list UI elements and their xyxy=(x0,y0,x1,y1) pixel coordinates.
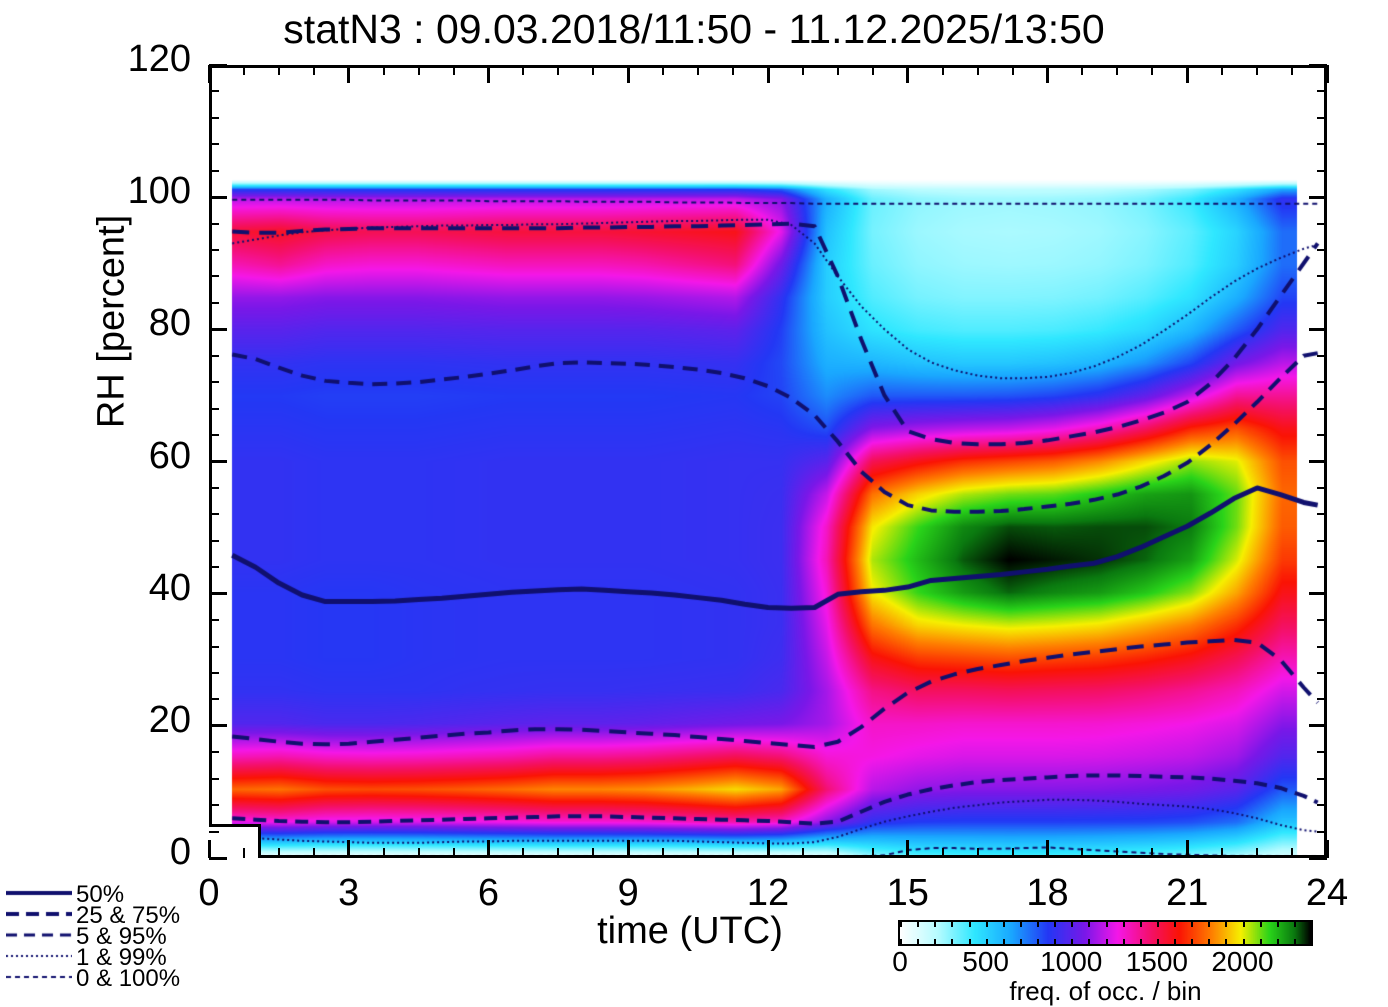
colorbar-minor-tick xyxy=(1054,939,1056,944)
y-minor-tick xyxy=(1317,355,1327,357)
colorbar-minor-tick xyxy=(1157,922,1159,927)
colorbar-minor-tick xyxy=(986,922,988,927)
colorbar-minor-tick xyxy=(1106,939,1108,944)
y-minor-tick xyxy=(209,302,219,304)
y-major-tick xyxy=(1309,592,1327,595)
y-minor-tick xyxy=(209,355,219,357)
colorbar-minor-tick xyxy=(1277,922,1279,927)
y-major-tick xyxy=(1309,328,1327,331)
y-minor-tick xyxy=(1317,566,1327,568)
y-minor-tick xyxy=(1317,223,1327,225)
y-minor-tick xyxy=(1317,170,1327,172)
x-tick-label: 6 xyxy=(419,872,559,915)
colorbar-minor-tick xyxy=(1037,922,1039,927)
legend-label: 0 & 100% xyxy=(76,965,180,993)
x-minor-tick xyxy=(942,848,944,858)
x-tick-label: 15 xyxy=(838,872,978,915)
x-major-tick xyxy=(208,65,211,83)
colorbar-minor-tick xyxy=(1071,939,1073,944)
colorbar-minor-tick xyxy=(917,922,919,927)
y-minor-tick xyxy=(1317,619,1327,621)
y-minor-tick xyxy=(1317,672,1327,674)
colorbar-minor-tick xyxy=(1140,939,1142,944)
x-tick-label: 3 xyxy=(279,872,419,915)
x-major-tick xyxy=(767,65,770,83)
x-minor-tick xyxy=(872,848,874,858)
x-minor-tick xyxy=(278,848,280,858)
plot-page: statN3 : 09.03.2018/11:50 - 11.12.2025/1… xyxy=(0,0,1388,992)
y-minor-tick xyxy=(1317,751,1327,753)
y-major-tick xyxy=(209,592,227,595)
y-minor-tick xyxy=(1317,487,1327,489)
y-minor-tick xyxy=(1317,275,1327,277)
y-minor-tick xyxy=(1317,143,1327,145)
colorbar-minor-tick xyxy=(934,922,936,927)
colorbar-minor-tick xyxy=(1260,939,1262,944)
y-minor-tick xyxy=(1317,513,1327,515)
colorbar-minor-tick xyxy=(986,939,988,944)
x-major-tick xyxy=(906,65,909,83)
y-minor-tick xyxy=(1317,434,1327,436)
y-tick-label: 20 xyxy=(19,699,191,742)
x-major-tick xyxy=(487,840,490,858)
legend-line-sample xyxy=(6,951,72,961)
colorbar-minor-tick xyxy=(1003,939,1005,944)
y-major-tick xyxy=(1309,460,1327,463)
y-minor-tick xyxy=(209,434,219,436)
y-major-tick xyxy=(1309,724,1327,727)
legend-line-sample xyxy=(6,930,72,940)
x-minor-tick xyxy=(1256,65,1258,75)
x-major-tick xyxy=(487,65,490,83)
y-minor-tick xyxy=(1317,698,1327,700)
x-minor-tick xyxy=(1151,65,1153,75)
colorbar-minor-tick xyxy=(900,939,902,944)
y-minor-tick xyxy=(1317,540,1327,542)
colorbar-minor-tick xyxy=(917,939,919,944)
x-minor-tick xyxy=(557,848,559,858)
x-minor-tick xyxy=(1291,65,1293,75)
colorbar-minor-tick xyxy=(1174,922,1176,927)
x-minor-tick xyxy=(243,848,245,858)
x-minor-tick xyxy=(278,65,280,75)
colorbar-minor-tick xyxy=(934,939,936,944)
x-minor-tick xyxy=(1116,848,1118,858)
legend-item: 0 & 100% xyxy=(4,968,204,989)
x-minor-tick xyxy=(1012,848,1014,858)
x-minor-tick xyxy=(1012,65,1014,75)
x-minor-tick xyxy=(732,65,734,75)
y-minor-tick xyxy=(209,778,219,780)
colorbar-minor-tick xyxy=(1277,939,1279,944)
y-minor-tick xyxy=(1317,249,1327,251)
y-minor-tick xyxy=(209,143,219,145)
x-minor-tick xyxy=(1221,848,1223,858)
x-minor-tick xyxy=(977,65,979,75)
colorbar-minor-tick xyxy=(1123,939,1125,944)
colorbar-minor-tick xyxy=(1260,922,1262,927)
x-minor-tick xyxy=(837,65,839,75)
x-minor-tick xyxy=(522,848,524,858)
colorbar-minor-tick xyxy=(1225,922,1227,927)
y-major-tick xyxy=(209,64,227,67)
x-minor-tick xyxy=(1151,848,1153,858)
x-major-tick xyxy=(1186,840,1189,858)
x-minor-tick xyxy=(313,848,315,858)
y-major-tick xyxy=(1309,64,1327,67)
x-tick-label: 21 xyxy=(1117,872,1257,915)
no-data-box xyxy=(209,824,261,858)
colorbar-minor-tick xyxy=(1311,939,1313,944)
x-minor-tick xyxy=(837,848,839,858)
x-minor-tick xyxy=(662,848,664,858)
x-major-tick xyxy=(347,840,350,858)
y-minor-tick xyxy=(1317,831,1327,833)
y-minor-tick xyxy=(1317,302,1327,304)
colorbar-minor-tick xyxy=(951,939,953,944)
colorbar-minor-tick xyxy=(1191,922,1193,927)
y-minor-tick xyxy=(1317,408,1327,410)
colorbar-minor-tick xyxy=(1071,922,1073,927)
y-minor-tick xyxy=(1317,778,1327,780)
y-minor-tick xyxy=(209,223,219,225)
x-minor-tick xyxy=(243,65,245,75)
x-major-tick xyxy=(1326,840,1329,858)
colorbar-minor-tick xyxy=(1311,922,1313,927)
x-major-tick xyxy=(1186,65,1189,83)
y-minor-tick xyxy=(209,540,219,542)
y-minor-tick xyxy=(1317,646,1327,648)
y-minor-tick xyxy=(209,487,219,489)
y-minor-tick xyxy=(209,751,219,753)
x-minor-tick xyxy=(1291,848,1293,858)
x-minor-tick xyxy=(592,848,594,858)
y-minor-tick xyxy=(209,513,219,515)
colorbar: 0500100015002000 freq. of occ. / bin xyxy=(898,920,1313,946)
x-major-tick xyxy=(208,840,211,858)
x-major-tick xyxy=(1326,65,1329,83)
x-minor-tick xyxy=(697,65,699,75)
colorbar-minor-tick xyxy=(1088,939,1090,944)
colorbar-minor-tick xyxy=(1157,939,1159,944)
y-minor-tick xyxy=(209,275,219,277)
y-minor-tick xyxy=(209,117,219,119)
y-minor-tick xyxy=(209,672,219,674)
x-minor-tick xyxy=(662,65,664,75)
y-major-tick xyxy=(1309,196,1327,199)
x-major-tick xyxy=(906,840,909,858)
y-major-tick xyxy=(1309,857,1327,860)
x-minor-tick xyxy=(418,848,420,858)
axis-frame xyxy=(209,65,1327,858)
colorbar-minor-tick xyxy=(1123,922,1125,927)
x-major-tick xyxy=(627,65,630,83)
colorbar-minor-tick xyxy=(1054,922,1056,927)
x-minor-tick xyxy=(383,65,385,75)
x-major-tick xyxy=(1046,840,1049,858)
x-major-tick xyxy=(1046,65,1049,83)
y-major-tick xyxy=(209,328,227,331)
x-minor-tick xyxy=(802,65,804,75)
y-minor-tick xyxy=(209,804,219,806)
y-tick-label: 120 xyxy=(19,38,191,81)
colorbar-minor-tick xyxy=(1191,939,1193,944)
y-minor-tick xyxy=(1317,381,1327,383)
x-minor-tick xyxy=(1081,65,1083,75)
x-tick-label: 18 xyxy=(978,872,1118,915)
y-major-tick xyxy=(209,724,227,727)
legend-line-sample xyxy=(6,972,72,982)
colorbar-minor-tick xyxy=(1225,939,1227,944)
y-minor-tick xyxy=(209,619,219,621)
x-minor-tick xyxy=(697,848,699,858)
x-minor-tick xyxy=(557,65,559,75)
y-minor-tick xyxy=(209,566,219,568)
x-minor-tick xyxy=(802,848,804,858)
legend-line-sample xyxy=(6,888,72,898)
y-minor-tick xyxy=(209,249,219,251)
legend-line-sample xyxy=(6,909,72,919)
colorbar-minor-tick xyxy=(969,939,971,944)
y-minor-tick xyxy=(209,646,219,648)
y-minor-tick xyxy=(209,170,219,172)
x-minor-tick xyxy=(418,65,420,75)
colorbar-minor-tick xyxy=(1243,922,1245,927)
percentile-legend: 50%25 & 75%5 & 95%1 & 99%0 & 100% xyxy=(4,884,204,989)
x-major-tick xyxy=(347,65,350,83)
colorbar-minor-tick xyxy=(1294,922,1296,927)
x-minor-tick xyxy=(1116,65,1118,75)
colorbar-tick-label: 2000 xyxy=(1183,946,1303,978)
colorbar-minor-tick xyxy=(951,922,953,927)
colorbar-minor-tick xyxy=(900,922,902,927)
x-tick-label: 12 xyxy=(698,872,838,915)
colorbar-minor-tick xyxy=(1106,922,1108,927)
y-major-tick xyxy=(209,857,227,860)
x-major-tick xyxy=(767,840,770,858)
x-minor-tick xyxy=(872,65,874,75)
x-tick-label: 9 xyxy=(558,872,698,915)
y-minor-tick xyxy=(209,831,219,833)
colorbar-minor-tick xyxy=(1243,939,1245,944)
colorbar-minor-tick xyxy=(969,922,971,927)
colorbar-minor-tick xyxy=(1020,939,1022,944)
y-axis-label: RH [percent] xyxy=(91,132,134,512)
y-minor-tick xyxy=(1317,117,1327,119)
colorbar-minor-tick xyxy=(1088,922,1090,927)
x-minor-tick xyxy=(313,65,315,75)
colorbar-minor-tick xyxy=(1140,922,1142,927)
y-major-tick xyxy=(209,460,227,463)
y-minor-tick xyxy=(209,408,219,410)
x-minor-tick xyxy=(1256,848,1258,858)
x-tick-label: 24 xyxy=(1257,872,1388,915)
y-tick-label: 40 xyxy=(19,567,191,610)
x-minor-tick xyxy=(592,65,594,75)
colorbar-minor-tick xyxy=(1174,939,1176,944)
x-minor-tick xyxy=(977,848,979,858)
y-minor-tick xyxy=(1317,90,1327,92)
colorbar-minor-tick xyxy=(1294,939,1296,944)
x-minor-tick xyxy=(383,848,385,858)
x-minor-tick xyxy=(522,65,524,75)
x-minor-tick xyxy=(732,848,734,858)
colorbar-minor-tick xyxy=(1020,922,1022,927)
y-tick-label: 0 xyxy=(19,831,191,874)
colorbar-minor-tick xyxy=(1003,922,1005,927)
y-minor-tick xyxy=(1317,804,1327,806)
colorbar-minor-tick xyxy=(1037,939,1039,944)
y-major-tick xyxy=(209,196,227,199)
y-minor-tick xyxy=(209,381,219,383)
page-title: statN3 : 09.03.2018/11:50 - 11.12.2025/1… xyxy=(0,6,1388,53)
x-minor-tick xyxy=(453,848,455,858)
y-minor-tick xyxy=(209,90,219,92)
x-major-tick xyxy=(627,840,630,858)
x-minor-tick xyxy=(453,65,455,75)
y-minor-tick xyxy=(209,698,219,700)
x-minor-tick xyxy=(942,65,944,75)
colorbar-minor-tick xyxy=(1208,922,1210,927)
x-axis-label: time (UTC) xyxy=(500,910,880,953)
x-minor-tick xyxy=(1221,65,1223,75)
colorbar-minor-tick xyxy=(1208,939,1210,944)
x-minor-tick xyxy=(1081,848,1083,858)
